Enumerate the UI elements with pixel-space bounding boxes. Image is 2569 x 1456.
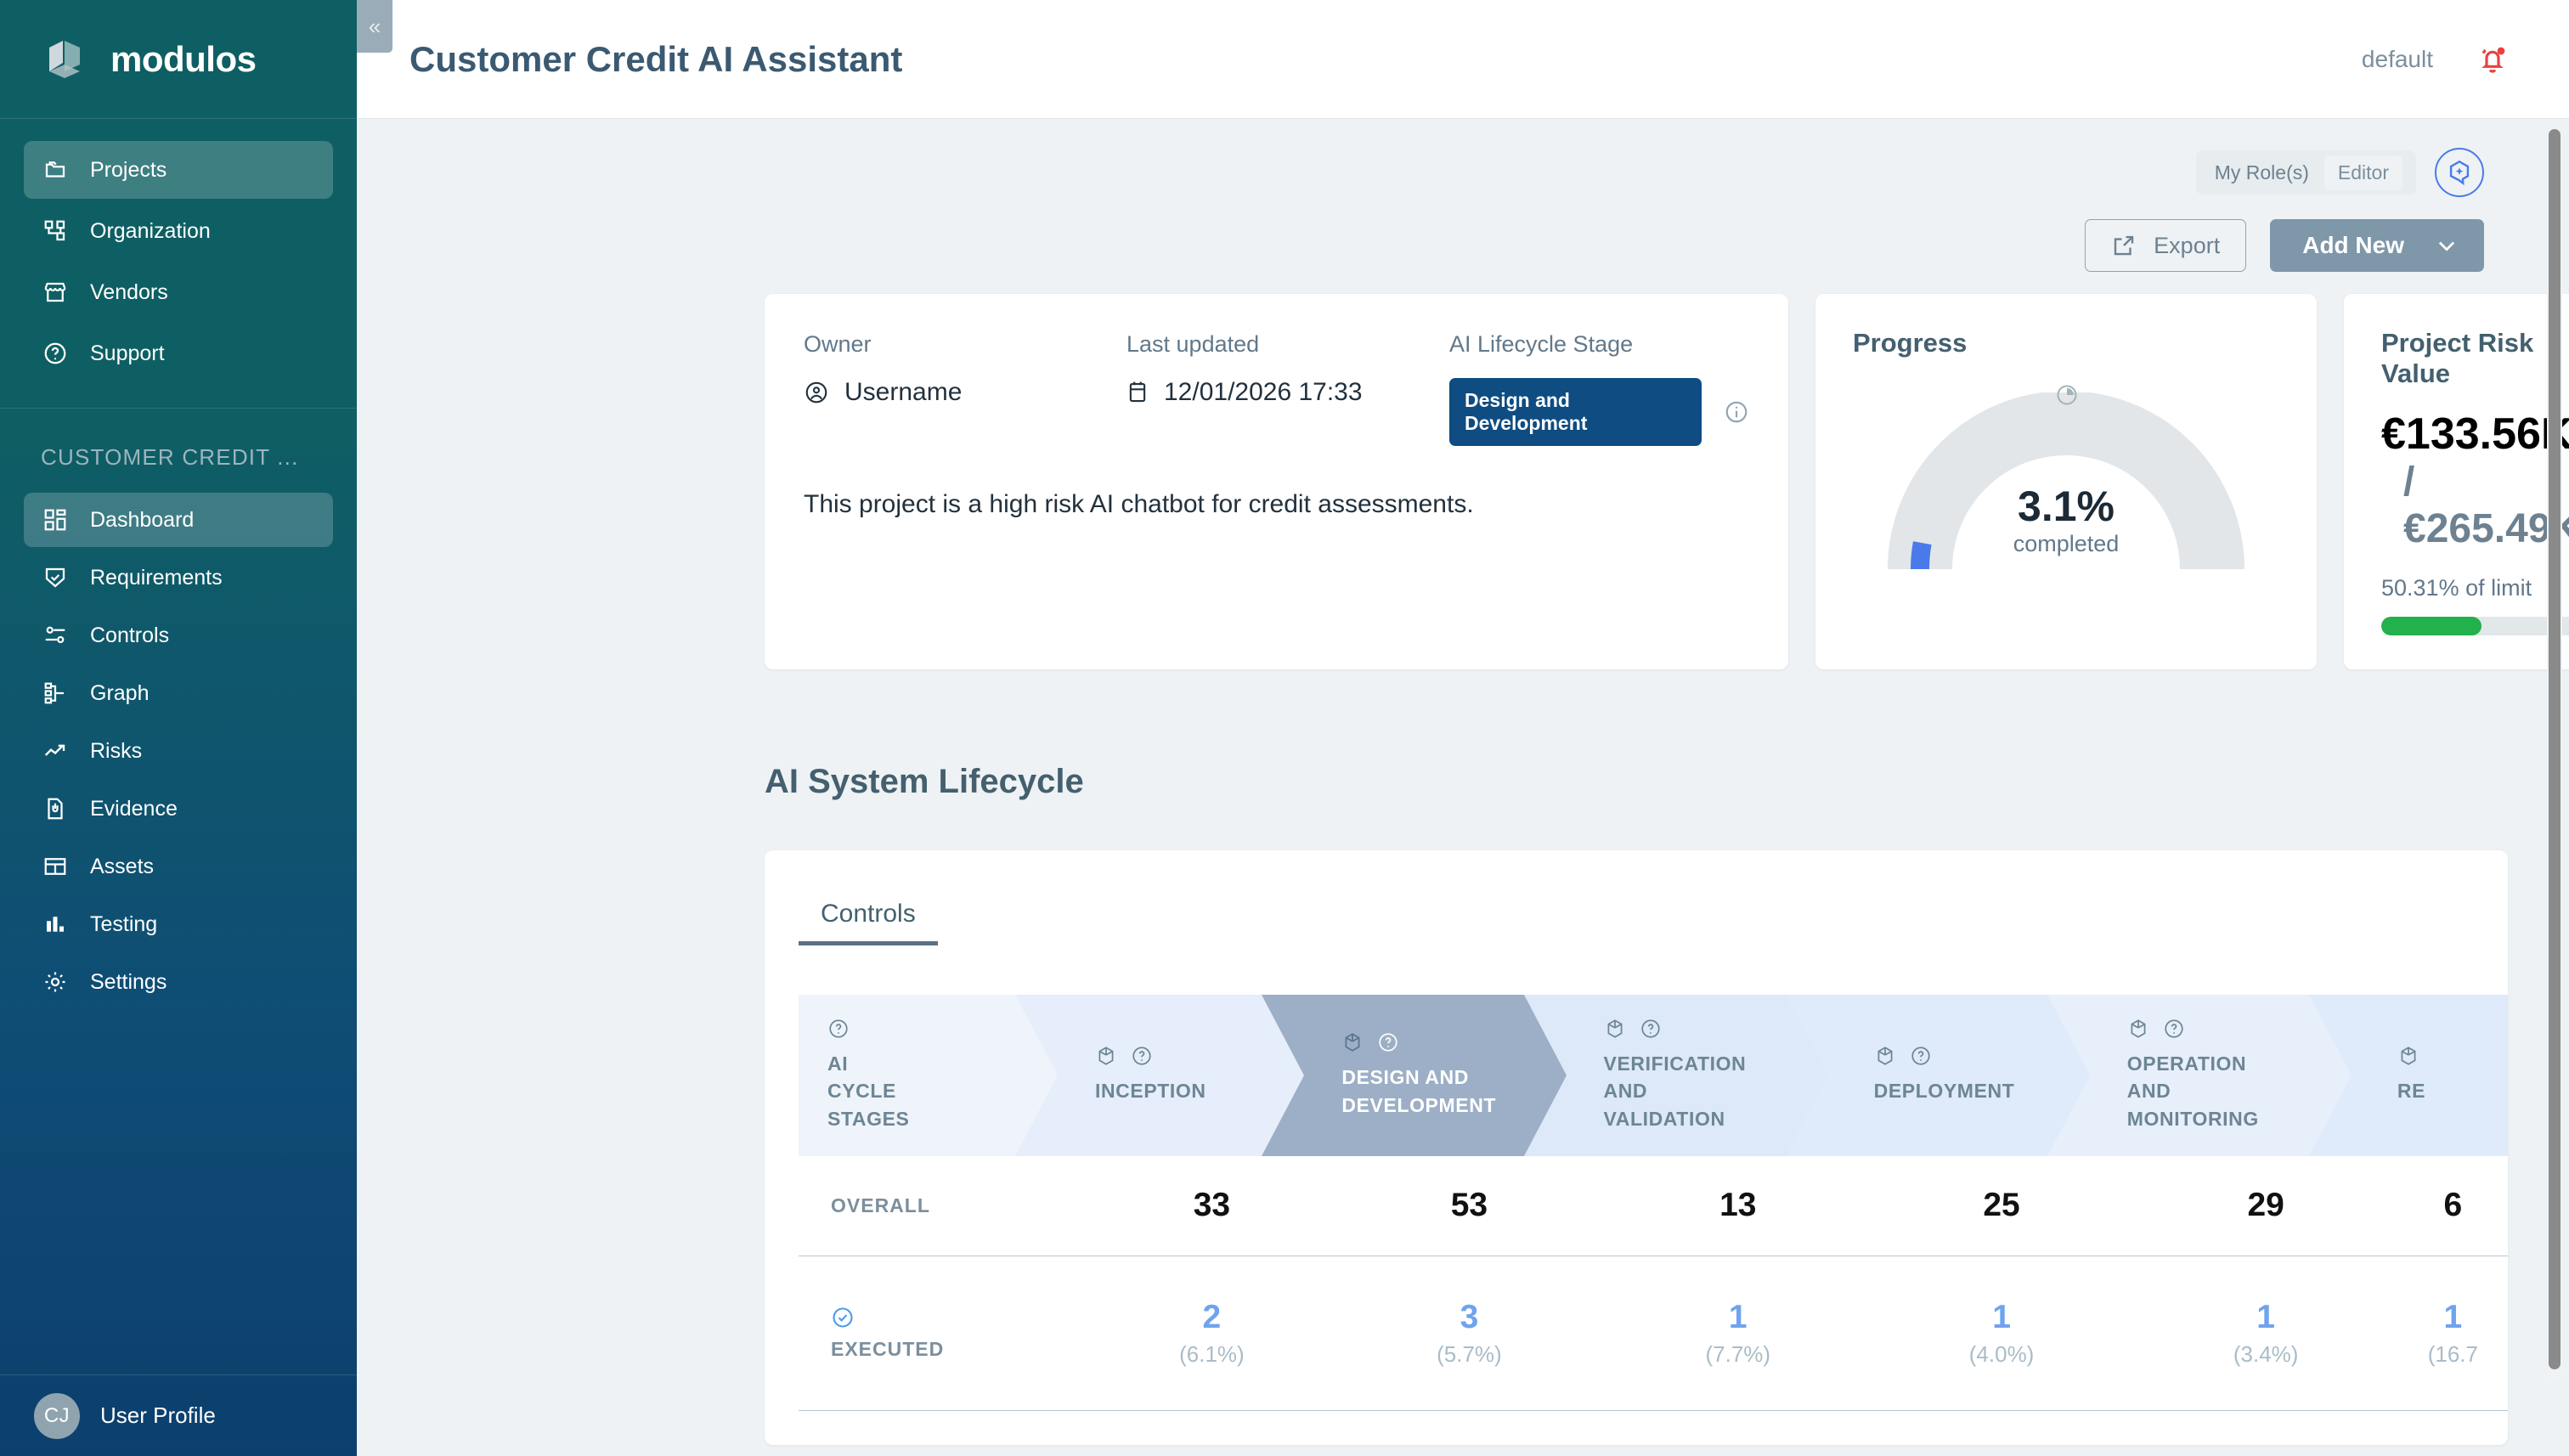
sidebar-item-label: Vendors bbox=[90, 280, 168, 305]
ai-sparkle-chat-icon[interactable] bbox=[2435, 148, 2484, 197]
trend-up-icon bbox=[42, 738, 68, 764]
app-root: modulos Projects Organization Vendors bbox=[0, 0, 2569, 1456]
sidebar-item-graph[interactable]: Graph bbox=[24, 666, 333, 720]
clock-quarter-icon bbox=[2054, 382, 2080, 408]
lifecycle-stage-strip: AI CYCLE STAGES INCEPTION bbox=[765, 995, 2508, 1156]
sidebar-item-projects[interactable]: Projects bbox=[24, 141, 333, 199]
modulos-cube-logo-icon bbox=[41, 36, 88, 83]
cube-icon bbox=[1874, 1045, 1896, 1067]
stage-label: DEPLOYMENT bbox=[1815, 1077, 2090, 1105]
add-new-button[interactable]: Add New bbox=[2270, 219, 2484, 272]
sidebar-item-evidence[interactable]: Evidence bbox=[24, 782, 333, 836]
page-scrollbar-thumb[interactable] bbox=[2549, 129, 2561, 1369]
sidebar-item-label: Assets bbox=[90, 855, 154, 879]
sidebar-item-settings[interactable]: Settings bbox=[24, 955, 333, 1009]
double-chevron-left-icon[interactable]: « bbox=[357, 0, 392, 53]
row-label-overall: OVERALL bbox=[799, 1194, 1092, 1217]
lifecycle-panel: Controls AI CYCLE STAGES bbox=[765, 850, 2508, 1445]
question-circle-icon[interactable] bbox=[2163, 1018, 2185, 1040]
content: My Role(s) Editor bbox=[357, 119, 2569, 1456]
cell-overall-retirement: 6 bbox=[2398, 1187, 2508, 1224]
page-scrollbar[interactable] bbox=[2547, 129, 2562, 1381]
calendar-icon bbox=[1126, 380, 1149, 405]
lifecycle-stage-block: AI Lifecycle Stage Design and Developmen… bbox=[1449, 331, 1749, 446]
role-value-badge: Editor bbox=[2324, 155, 2402, 190]
cell-overall-design: 53 bbox=[1332, 1187, 1606, 1224]
stage-header: AI CYCLE STAGES bbox=[799, 995, 1058, 1156]
action-buttons: Export Add New bbox=[2085, 219, 2484, 272]
graph-node-icon bbox=[42, 680, 68, 706]
sidebar-item-dashboard[interactable]: Dashboard bbox=[24, 493, 333, 547]
question-circle-icon[interactable] bbox=[827, 1018, 850, 1040]
brand[interactable]: modulos bbox=[0, 0, 357, 119]
sidebar-project-nav: Dashboard Requirements Controls Graph bbox=[0, 493, 357, 1013]
progress-card: Progress 3.1% completed bbox=[1815, 294, 2317, 669]
info-circle-icon[interactable] bbox=[1724, 399, 1749, 425]
question-circle-icon[interactable] bbox=[1377, 1031, 1399, 1053]
section-title: AI System Lifecycle bbox=[357, 669, 2569, 801]
risk-progress-bar bbox=[2381, 617, 2569, 635]
sidebar-item-label: Settings bbox=[90, 970, 167, 995]
question-circle-icon[interactable] bbox=[1640, 1018, 1662, 1040]
sidebar-item-support[interactable]: Support bbox=[24, 324, 333, 382]
progress-gauge: 3.1% completed bbox=[1888, 392, 2244, 575]
sidebar-item-organization[interactable]: Organization bbox=[24, 202, 333, 260]
stage-deployment[interactable]: DEPLOYMENT bbox=[1786, 995, 2090, 1156]
shield-check-icon bbox=[42, 565, 68, 590]
stage-label: INCEPTION bbox=[1044, 1077, 1304, 1105]
owner-value: Username bbox=[844, 378, 962, 407]
document-power-icon bbox=[42, 796, 68, 821]
main-area: Customer Credit AI Assistant default bbox=[357, 0, 2569, 1456]
sidebar-item-label: Dashboard bbox=[90, 508, 194, 533]
gear-icon bbox=[42, 969, 68, 995]
sidebar-item-label: Organization bbox=[90, 219, 211, 244]
sidebar-item-label: Risks bbox=[90, 739, 142, 764]
sidebar: modulos Projects Organization Vendors bbox=[0, 0, 357, 1456]
project-risk-card: Project Risk Value €133.56K / €265.49K 5… bbox=[2344, 294, 2569, 669]
sidebar-item-label: Support bbox=[90, 341, 165, 366]
sidebar-section-label: CUSTOMER CREDIT ... bbox=[0, 409, 357, 493]
cube-icon bbox=[1095, 1045, 1117, 1067]
risk-limit-caption: 50.31% of limit bbox=[2381, 575, 2569, 601]
check-circle-icon bbox=[831, 1306, 1092, 1329]
user-profile[interactable]: CJ User Profile bbox=[0, 1374, 357, 1456]
table-row: EXECUTED 2(6.1%) 3(5.7%) 1(7.7%) 1(4.0%)… bbox=[799, 1256, 2508, 1411]
user-pin-icon bbox=[804, 380, 829, 405]
lifecycle-stage-label: AI Lifecycle Stage bbox=[1449, 331, 1749, 358]
sidebar-item-assets[interactable]: Assets bbox=[24, 839, 333, 894]
risk-progress-fill bbox=[2381, 617, 2481, 635]
cell-executed-deployment: 1(4.0%) bbox=[1870, 1299, 2134, 1368]
sliders-icon bbox=[42, 623, 68, 648]
cell-overall-inception: 33 bbox=[1092, 1187, 1332, 1224]
topbar-right: default bbox=[2362, 42, 2510, 76]
sidebar-item-requirements[interactable]: Requirements bbox=[24, 550, 333, 605]
owner-block: Owner Username bbox=[804, 331, 1126, 446]
status-badge[interactable]: Design and Development bbox=[1449, 378, 1702, 446]
last-updated-label: Last updated bbox=[1126, 331, 1449, 358]
my-roles-label: My Role(s) bbox=[2215, 161, 2309, 184]
external-link-icon bbox=[2111, 233, 2137, 258]
cell-overall-verification: 13 bbox=[1606, 1187, 1869, 1224]
tenant-selector[interactable]: default bbox=[2362, 46, 2433, 73]
progress-sublabel: completed bbox=[1888, 531, 2244, 557]
table-row: OVERALL 33 53 13 25 29 6 bbox=[799, 1156, 2508, 1256]
bell-icon[interactable] bbox=[2476, 42, 2510, 76]
sidebar-item-label: Testing bbox=[90, 912, 157, 937]
tab-controls[interactable]: Controls bbox=[799, 884, 938, 945]
toolbar: My Role(s) Editor bbox=[357, 119, 2569, 272]
storefront-icon bbox=[42, 279, 68, 305]
sidebar-item-controls[interactable]: Controls bbox=[24, 608, 333, 663]
my-roles-chip: My Role(s) Editor bbox=[2196, 150, 2416, 195]
cell-executed-verification: 1(7.7%) bbox=[1606, 1299, 1869, 1368]
add-new-label: Add New bbox=[2302, 232, 2404, 259]
last-updated-value: 12/01/2026 17:33 bbox=[1164, 378, 1363, 407]
project-info-card: Owner Username Last updated bbox=[765, 294, 1788, 669]
cube-icon bbox=[2127, 1018, 2149, 1040]
question-circle-icon bbox=[42, 341, 68, 366]
risk-limit-value: / €265.49K bbox=[2381, 459, 2569, 552]
stage-label: DESIGN AND DEVELOPMENT bbox=[1290, 1064, 1566, 1119]
progress-percent: 3.1% bbox=[1888, 484, 2244, 529]
sidebar-item-label: Requirements bbox=[90, 566, 223, 590]
stage-header-label: AI CYCLE STAGES bbox=[827, 1050, 1058, 1133]
cell-executed-inception: 2(6.1%) bbox=[1092, 1299, 1332, 1368]
folder-icon bbox=[42, 157, 68, 183]
question-circle-icon[interactable] bbox=[1910, 1045, 1932, 1067]
row-label-executed: EXECUTED bbox=[799, 1306, 1092, 1361]
risk-value: €133.56K bbox=[2381, 409, 2569, 459]
stage-operation-and-monitoring[interactable]: OPERATION AND MONITORING bbox=[2047, 995, 2352, 1156]
avatar: CJ bbox=[34, 1393, 80, 1439]
stage-label: OPERATION AND MONITORING bbox=[2076, 1050, 2352, 1133]
dashboard-grid-icon bbox=[42, 507, 68, 533]
progress-card-title: Progress bbox=[1853, 328, 2279, 358]
bar-chart-icon bbox=[42, 911, 68, 937]
sidebar-item-label: Controls bbox=[90, 624, 169, 648]
risk-card-title: Project Risk Value bbox=[2381, 328, 2569, 389]
owner-label: Owner bbox=[804, 331, 1126, 358]
cell-executed-design: 3(5.7%) bbox=[1332, 1299, 1606, 1368]
user-profile-label: User Profile bbox=[100, 1402, 216, 1429]
stage-label: RE bbox=[2338, 1077, 2508, 1105]
stage-inception[interactable]: INCEPTION bbox=[1015, 995, 1304, 1156]
stage-label: VERIFICATION AND VALIDATION bbox=[1553, 1050, 1828, 1133]
sidebar-item-label: Evidence bbox=[90, 797, 178, 821]
sidebar-item-vendors[interactable]: Vendors bbox=[24, 263, 333, 321]
summary-cards: Owner Username Last updated bbox=[357, 272, 2569, 669]
role-row: My Role(s) Editor bbox=[2196, 148, 2484, 197]
last-updated-block: Last updated 12/01/2026 17:33 bbox=[1126, 331, 1449, 446]
project-description: This project is a high risk AI chatbot f… bbox=[804, 490, 1749, 519]
sidebar-item-testing[interactable]: Testing bbox=[24, 897, 333, 951]
sidebar-item-label: Projects bbox=[90, 158, 167, 183]
panel-tabs: Controls bbox=[765, 884, 2508, 945]
cube-icon bbox=[2397, 1045, 2419, 1067]
cell-executed-retirement: 1(16.7 bbox=[2398, 1299, 2508, 1368]
cell-overall-operation: 29 bbox=[2134, 1187, 2398, 1224]
export-button[interactable]: Export bbox=[2085, 219, 2246, 272]
topbar: Customer Credit AI Assistant default bbox=[357, 0, 2569, 119]
stage-verification-and-validation[interactable]: VERIFICATION AND VALIDATION bbox=[1524, 995, 1828, 1156]
export-label: Export bbox=[2154, 233, 2220, 259]
sidebar-item-label: Graph bbox=[90, 681, 149, 706]
table-icon bbox=[42, 854, 68, 879]
cell-executed-operation: 1(3.4%) bbox=[2134, 1299, 2398, 1368]
stage-header-icons bbox=[827, 1018, 1058, 1040]
org-chart-icon bbox=[42, 218, 68, 244]
page-title: Customer Credit AI Assistant bbox=[409, 39, 902, 80]
sidebar-main-nav: Projects Organization Vendors Support bbox=[0, 119, 357, 386]
stage-design-and-development[interactable]: DESIGN AND DEVELOPMENT bbox=[1262, 995, 1566, 1156]
chevron-down-icon bbox=[2435, 234, 2459, 257]
cube-icon bbox=[1341, 1031, 1364, 1053]
brand-name: modulos bbox=[110, 39, 257, 80]
cube-icon bbox=[1604, 1018, 1626, 1040]
question-circle-icon[interactable] bbox=[1131, 1045, 1153, 1067]
cell-overall-deployment: 25 bbox=[1870, 1187, 2134, 1224]
sidebar-item-risks[interactable]: Risks bbox=[24, 724, 333, 778]
